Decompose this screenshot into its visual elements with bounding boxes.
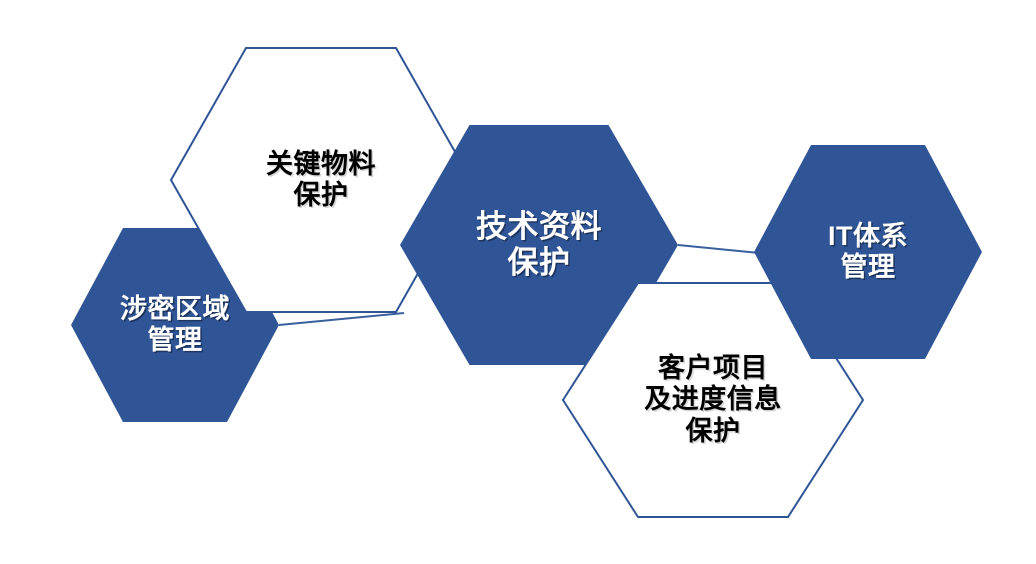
hexagon-layer bbox=[71, 48, 982, 517]
connector-classified-to-key-material bbox=[279, 313, 404, 325]
hexagon-diagram bbox=[0, 0, 1036, 564]
diagram-canvas: 涉密区域 管理关键物料 保护技术资料 保护客户项目 及进度信息 保护IT体系 管… bbox=[0, 0, 1036, 564]
